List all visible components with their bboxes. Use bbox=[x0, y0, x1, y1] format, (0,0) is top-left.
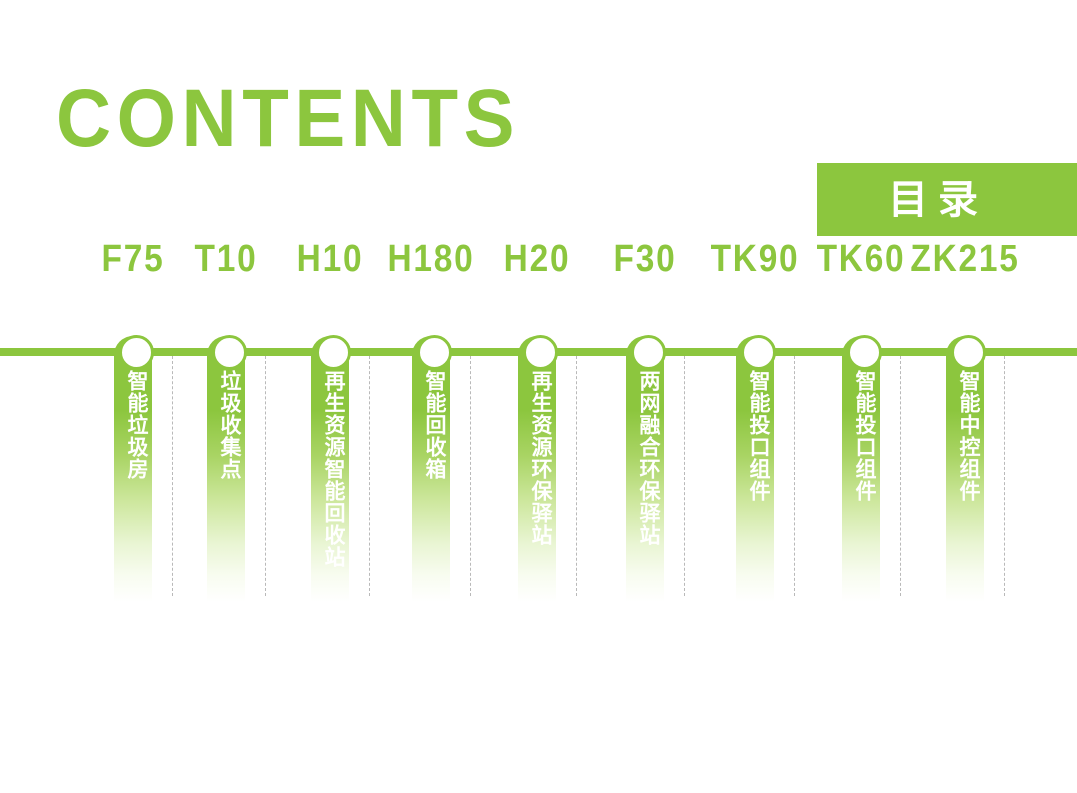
timeline-node-dot[interactable] bbox=[631, 335, 666, 370]
timeline-node-dot[interactable] bbox=[951, 335, 986, 370]
timeline-node-code: F75 bbox=[102, 240, 165, 278]
timeline-separator bbox=[172, 356, 173, 596]
timeline-node-code: ZK215 bbox=[910, 240, 1019, 278]
timeline-node-dot[interactable] bbox=[417, 335, 452, 370]
timeline-node-dot[interactable] bbox=[212, 335, 247, 370]
timeline-node-caption: 再生资源智能回收站 bbox=[315, 370, 345, 568]
timeline-node-caption: 再生资源环保驿站 bbox=[522, 370, 552, 546]
timeline-separator bbox=[1004, 356, 1005, 596]
timeline-node-code: H180 bbox=[388, 240, 475, 278]
timeline-node-caption: 垃圾收集点 bbox=[211, 370, 241, 480]
timeline-node-caption: 智能投口组件 bbox=[846, 370, 876, 502]
timeline-separator bbox=[369, 356, 370, 596]
timeline-node-code: F30 bbox=[614, 240, 677, 278]
timeline-node-code: H20 bbox=[504, 240, 571, 278]
timeline-separator bbox=[794, 356, 795, 596]
timeline-separator bbox=[265, 356, 266, 596]
timeline-node-dot[interactable] bbox=[119, 335, 154, 370]
timeline-node-caption: 智能回收箱 bbox=[416, 370, 446, 480]
timeline-node-caption: 智能投口组件 bbox=[740, 370, 770, 502]
timeline-separator bbox=[576, 356, 577, 596]
timeline-node-code: T10 bbox=[195, 240, 258, 278]
timeline-node-dot[interactable] bbox=[847, 335, 882, 370]
timeline-node-dot[interactable] bbox=[523, 335, 558, 370]
timeline-separator bbox=[900, 356, 901, 596]
timeline-node-dot[interactable] bbox=[316, 335, 351, 370]
timeline-node-caption: 智能垃圾房 bbox=[118, 370, 148, 480]
timeline-node-code: TK90 bbox=[711, 240, 800, 278]
timeline-node-caption: 智能中控组件 bbox=[950, 370, 980, 502]
timeline-node-code: TK60 bbox=[817, 240, 906, 278]
timeline-separator bbox=[470, 356, 471, 596]
timeline-node-dot[interactable] bbox=[741, 335, 776, 370]
contents-timeline: 智能垃圾房F75垃圾收集点T10再生资源智能回收站H10智能回收箱H180再生资… bbox=[0, 0, 1077, 793]
timeline-node-code: H10 bbox=[297, 240, 364, 278]
timeline-node-caption: 两网融合环保驿站 bbox=[630, 370, 660, 546]
timeline-separator bbox=[684, 356, 685, 596]
